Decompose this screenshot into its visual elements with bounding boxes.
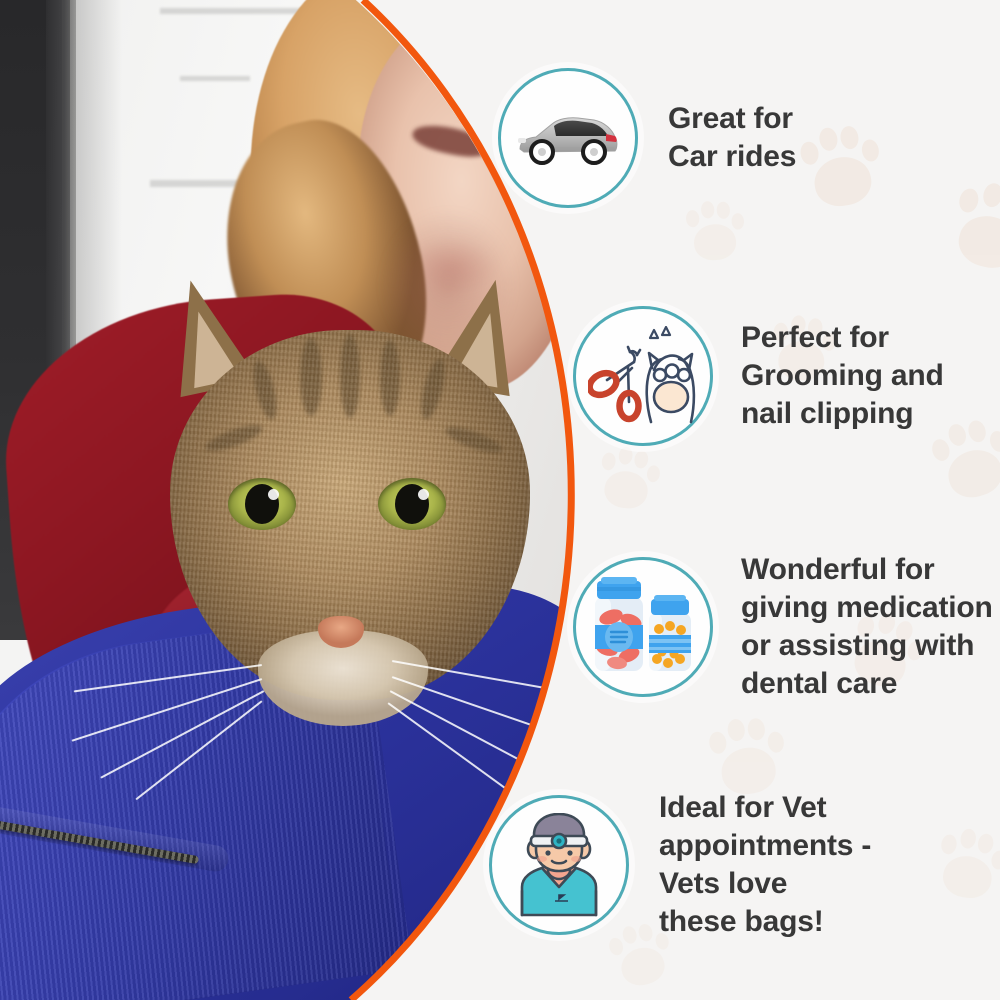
veterinarian-icon [506, 813, 612, 917]
feature-icon-circle [573, 557, 713, 697]
feature-icon-circle [573, 306, 713, 446]
nail-clipper-paw-icon [588, 326, 698, 426]
feature-label: Ideal for Vet appointments - Vets love t… [659, 789, 871, 941]
pill-bottles-icon [587, 577, 699, 677]
feature-icon-circle [489, 795, 629, 935]
product-feature-graphic: Great for Car rides [0, 0, 1000, 1000]
feature-item-grooming[interactable]: Perfect for Grooming and nail clipping [573, 306, 944, 446]
feature-label: Wonderful for giving medication or assis… [741, 551, 993, 703]
feature-label: Perfect for Grooming and nail clipping [741, 319, 944, 433]
feature-item-medication[interactable]: Wonderful for giving medication or assis… [573, 551, 993, 703]
feature-icon-circle [498, 68, 638, 208]
feature-item-car-rides[interactable]: Great for Car rides [498, 68, 796, 208]
feature-label: Great for Car rides [668, 100, 796, 176]
car-icon [516, 107, 620, 169]
feature-item-vet[interactable]: Ideal for Vet appointments - Vets love t… [489, 789, 871, 941]
feature-list: Great for Car rides [0, 0, 1000, 1000]
